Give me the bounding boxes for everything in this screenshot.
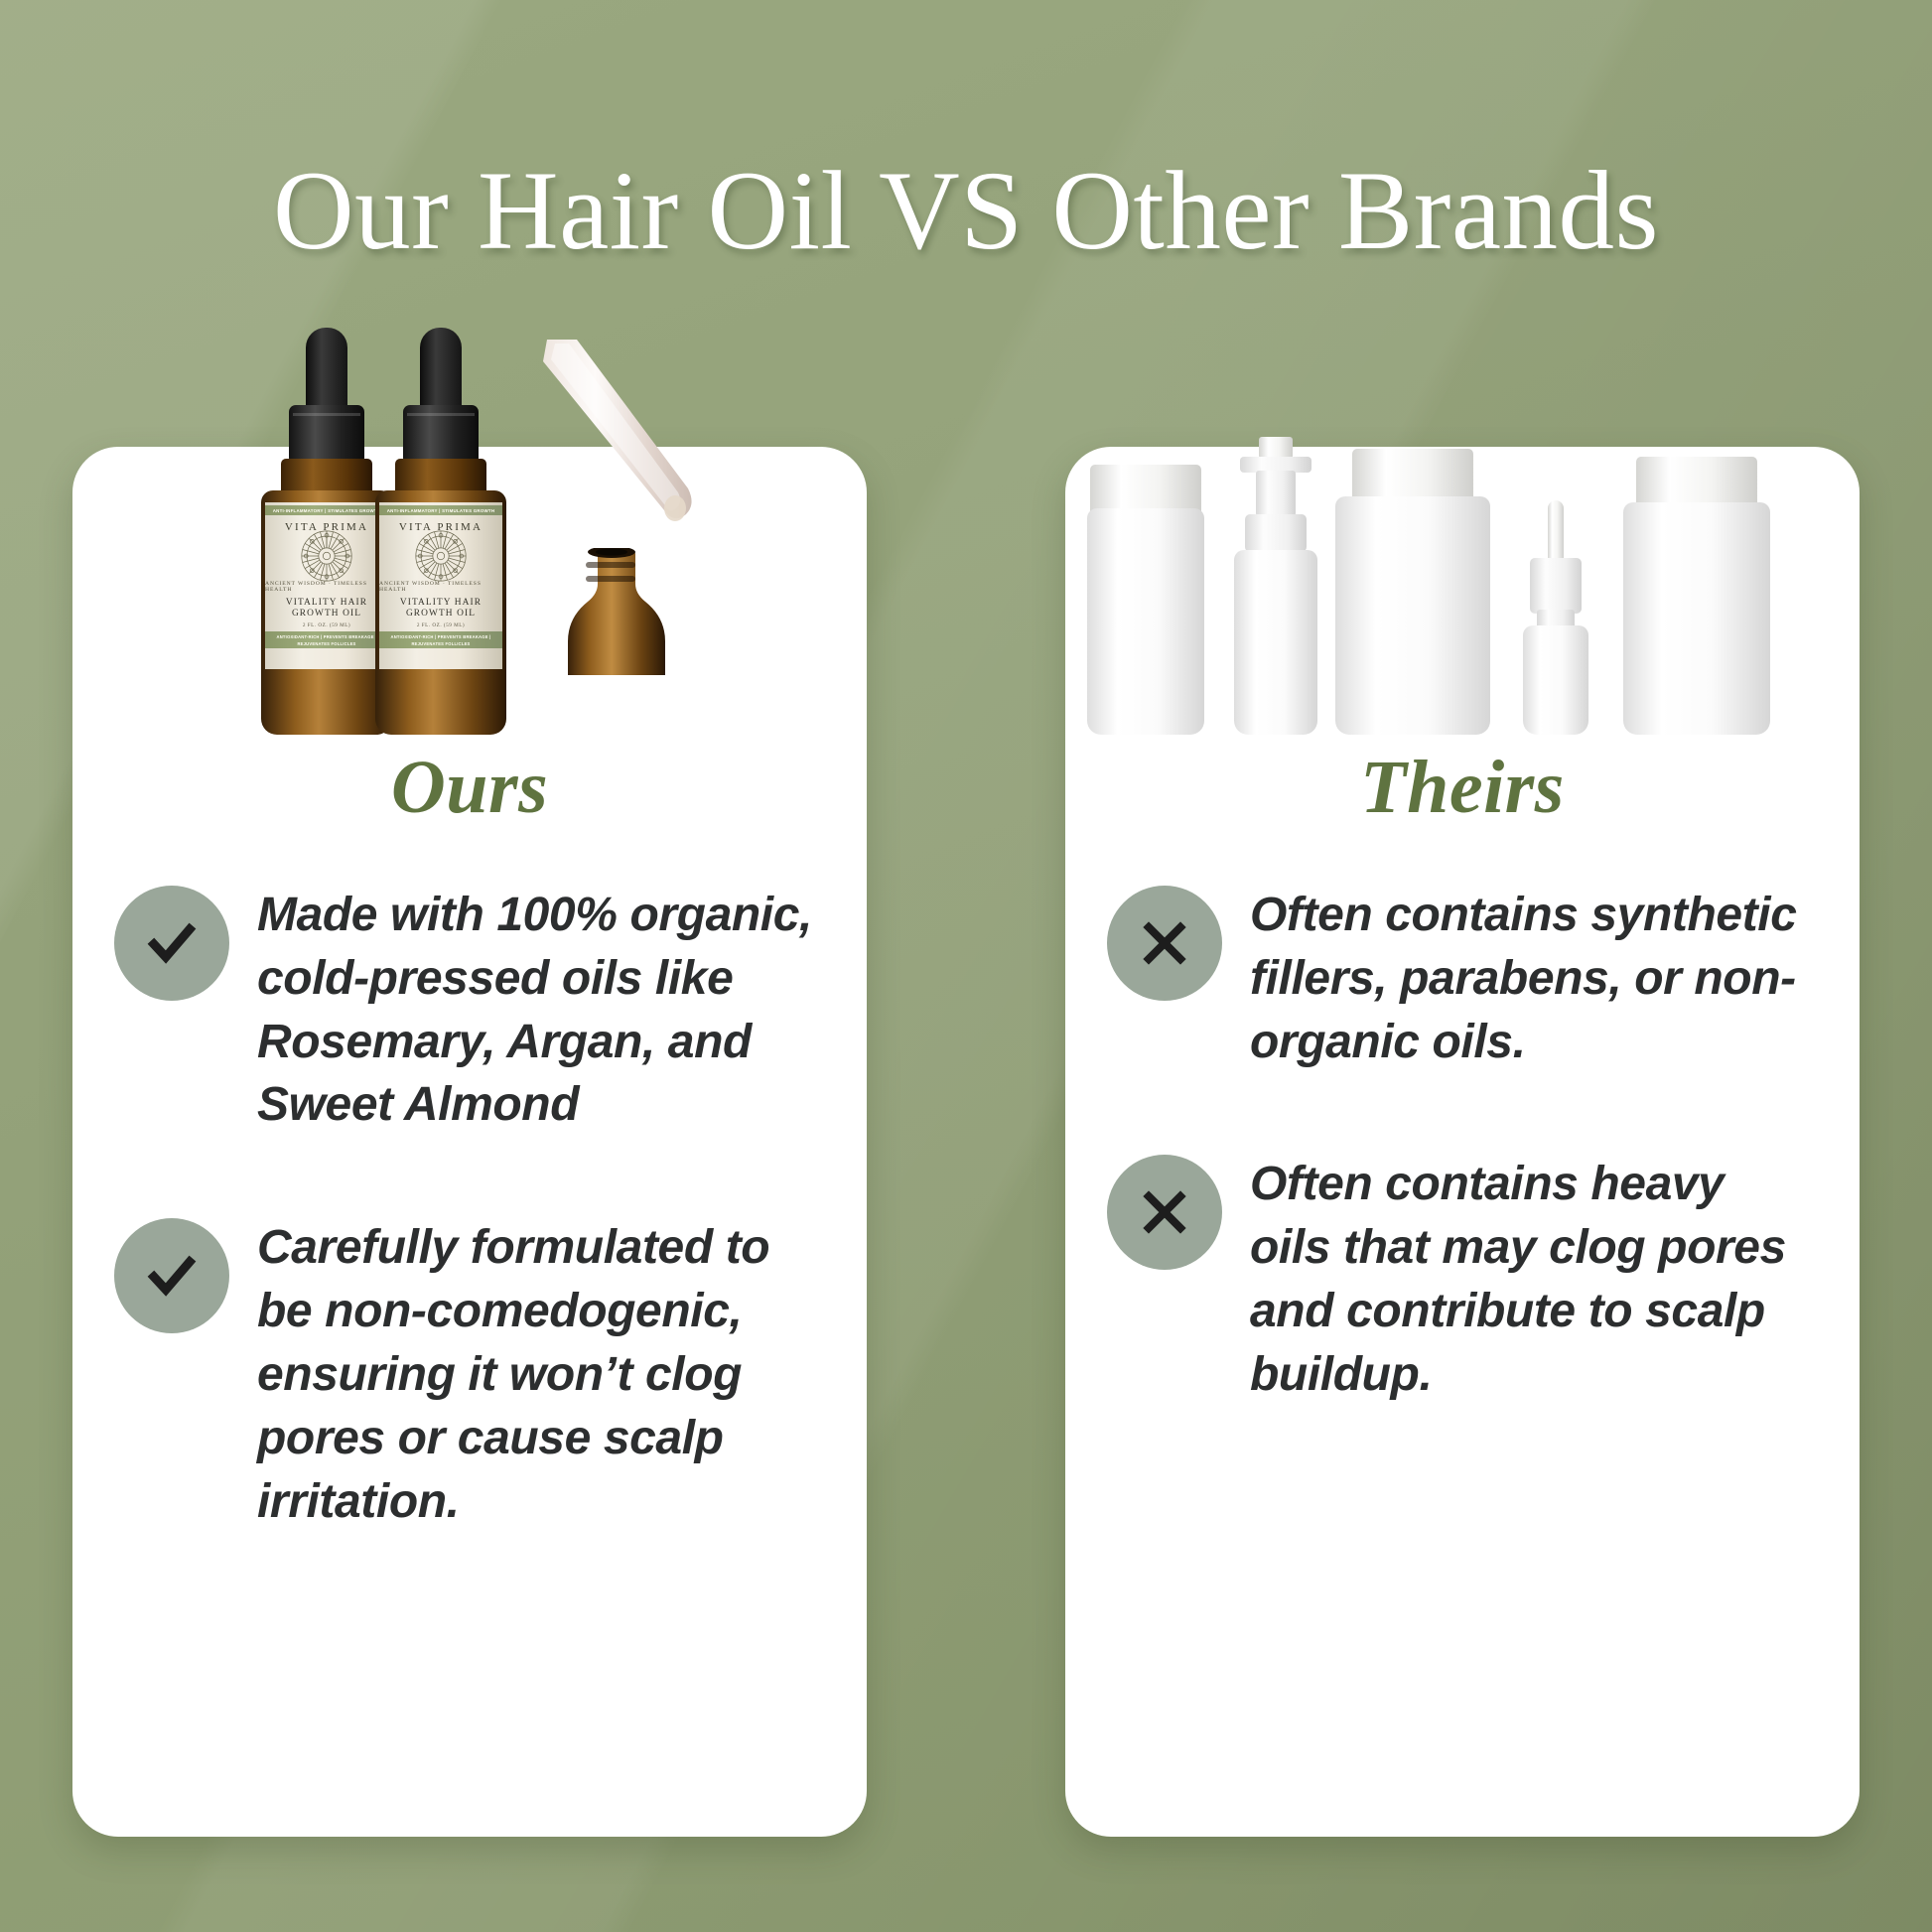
amber-bottle-2: ANTI-INFLAMMATORY | STIMULATES GROWTH VI… xyxy=(375,445,506,735)
column-heading-theirs: Theirs xyxy=(1065,745,1860,831)
label-name-line2: GROWTH OIL xyxy=(400,609,482,620)
spray-stem xyxy=(1256,471,1296,516)
dropper-cap-icon xyxy=(420,328,462,413)
bullet-list-ours: Made with 100% organic, cold-pressed oil… xyxy=(114,880,823,1608)
dropper-collar xyxy=(1530,558,1582,614)
label-band-bottom: ANTIOXIDANT-RICH | PREVENTS BREAKAGE | R… xyxy=(265,631,388,648)
bottle-label: ANTI-INFLAMMATORY | STIMULATES GROWTH VI… xyxy=(379,502,502,669)
label-band-top: ANTI-INFLAMMATORY | STIMULATES GROWTH xyxy=(379,505,502,515)
label-name-line1: VITALITY HAIR xyxy=(286,598,367,609)
list-item-text: Often contains heavy oils that may clog … xyxy=(1250,1149,1816,1406)
bullet-list-theirs: Often contains synthetic fillers, parabe… xyxy=(1107,880,1816,1482)
dropper-collar xyxy=(289,405,364,465)
spray-collar xyxy=(1245,514,1307,552)
white-bottle-4-dropper xyxy=(1518,492,1593,735)
label-band-bottom: ANTIOXIDANT-RICH | PREVENTS BREAKAGE | R… xyxy=(379,631,502,648)
label-tagline: ANCIENT WISDOM · TIMELESS HEALTH xyxy=(265,581,388,593)
page-title: Our Hair Oil VS Other Brands xyxy=(0,147,1932,276)
label-name-line1: VITALITY HAIR xyxy=(400,598,482,609)
white-bottle-3 xyxy=(1335,449,1490,735)
product-image-ours: ANTI-INFLAMMATORY | STIMULATES GROWTH VI… xyxy=(72,318,867,735)
dropper-cap-icon xyxy=(306,328,347,413)
list-item: Made with 100% organic, cold-pressed oil… xyxy=(114,880,823,1137)
white-bottle-2-spray xyxy=(1234,437,1317,735)
close-icon xyxy=(1107,1155,1222,1270)
list-item: Carefully formulated to be non-comedogen… xyxy=(114,1212,823,1533)
list-item: Often contains heavy oils that may clog … xyxy=(1107,1149,1816,1406)
check-icon xyxy=(114,1218,229,1333)
product-image-theirs xyxy=(1065,318,1860,735)
dropper-collar xyxy=(403,405,479,465)
bottle-label: ANTI-INFLAMMATORY | STIMULATES GROWTH VI… xyxy=(265,502,388,669)
label-volume: 2 FL. OZ. (59 ML) xyxy=(303,622,350,628)
dropper-tip-icon xyxy=(1548,500,1564,562)
spray-nozzle-icon xyxy=(1259,437,1293,459)
label-volume: 2 FL. OZ. (59 ML) xyxy=(417,622,465,628)
bottle-body xyxy=(1234,550,1317,735)
column-heading-ours: Ours xyxy=(72,745,867,831)
list-item-text: Often contains synthetic fillers, parabe… xyxy=(1250,880,1816,1073)
comparison-card-theirs: Theirs Often contains synthetic fillers,… xyxy=(1065,447,1860,1837)
label-product-name: VITALITY HAIR GROWTH OIL xyxy=(400,598,482,620)
glass-pipette-icon xyxy=(539,340,777,534)
comparison-card-ours: ANTI-INFLAMMATORY | STIMULATES GROWTH VI… xyxy=(72,447,867,1837)
amber-bottle-1: ANTI-INFLAMMATORY | STIMULATES GROWTH VI… xyxy=(261,445,392,735)
list-item-text: Made with 100% organic, cold-pressed oil… xyxy=(257,880,823,1137)
open-amber-bottle-icon xyxy=(558,548,665,675)
white-bottle-1 xyxy=(1087,465,1204,735)
label-name-line2: GROWTH OIL xyxy=(286,609,367,620)
label-product-name: VITALITY HAIR GROWTH OIL xyxy=(286,598,367,620)
label-band-top: ANTI-INFLAMMATORY | STIMULATES GROWTH xyxy=(265,505,388,515)
list-item-text: Carefully formulated to be non-comedogen… xyxy=(257,1212,823,1533)
bottle-body xyxy=(1335,496,1490,735)
bottle-body xyxy=(1623,502,1770,735)
close-icon xyxy=(1107,886,1222,1001)
list-item: Often contains synthetic fillers, parabe… xyxy=(1107,880,1816,1073)
bottle-body xyxy=(1523,625,1588,735)
label-tagline: ANCIENT WISDOM · TIMELESS HEALTH xyxy=(379,581,502,593)
check-icon xyxy=(114,886,229,1001)
white-bottle-5 xyxy=(1623,457,1770,735)
bottle-body xyxy=(1087,508,1204,735)
